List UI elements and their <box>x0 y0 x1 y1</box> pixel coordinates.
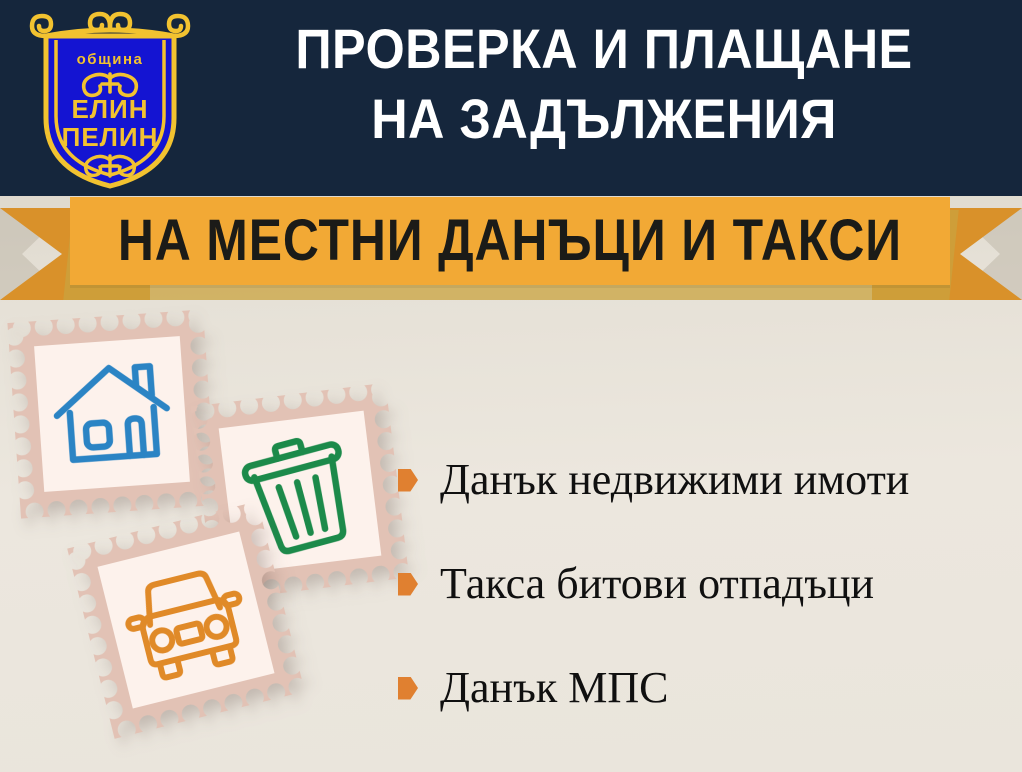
tax-type-list: Данък недвижими имоти Такса битови отпад… <box>398 428 1014 740</box>
ribbon-banner: НА МЕСТНИ ДАНЪЦИ И ТАКСИ <box>70 197 950 285</box>
list-item: Данък недвижими имоти <box>398 428 1014 532</box>
title-line-1: ПРОВЕРКА И ПЛАЩАНЕ <box>237 14 971 84</box>
arrow-bullet-icon <box>398 573 418 596</box>
list-item-label: Такса битови отпадъци <box>440 559 874 609</box>
stamp-card-house <box>7 309 216 518</box>
list-item: Данък МПС <box>398 636 1014 740</box>
list-item-label: Данък МПС <box>440 663 668 713</box>
subtitle-ribbon: НА МЕСТНИ ДАНЪЦИ И ТАКСИ <box>0 196 1022 308</box>
list-item-label: Данък недвижими имоти <box>440 455 909 505</box>
crest-label-small: община <box>77 51 144 68</box>
arrow-bullet-icon <box>398 469 418 492</box>
header-bar: община ЕЛИН ПЕЛИН ПРОВЕРКА И <box>0 0 1022 196</box>
title-line-2: НА ЗАДЪЛЖЕНИЯ <box>237 84 971 154</box>
ribbon-label: НА МЕСТНИ ДАНЪЦИ И ТАКСИ <box>118 211 902 271</box>
list-item: Такса битови отпадъци <box>398 532 1014 636</box>
poster-title: ПРОВЕРКА И ПЛАЩАНЕ НА ЗАДЪЛЖЕНИЯ <box>196 14 1012 154</box>
stamp-card-group <box>0 300 420 772</box>
coat-of-arms: община ЕЛИН ПЕЛИН <box>22 6 198 190</box>
poster-root: община ЕЛИН ПЕЛИН ПРОВЕРКА И <box>0 0 1022 772</box>
crest-label-line2: ПЕЛИН <box>62 122 159 152</box>
crest-label-line1: ЕЛИН <box>71 94 148 124</box>
arrow-bullet-icon <box>398 677 418 700</box>
